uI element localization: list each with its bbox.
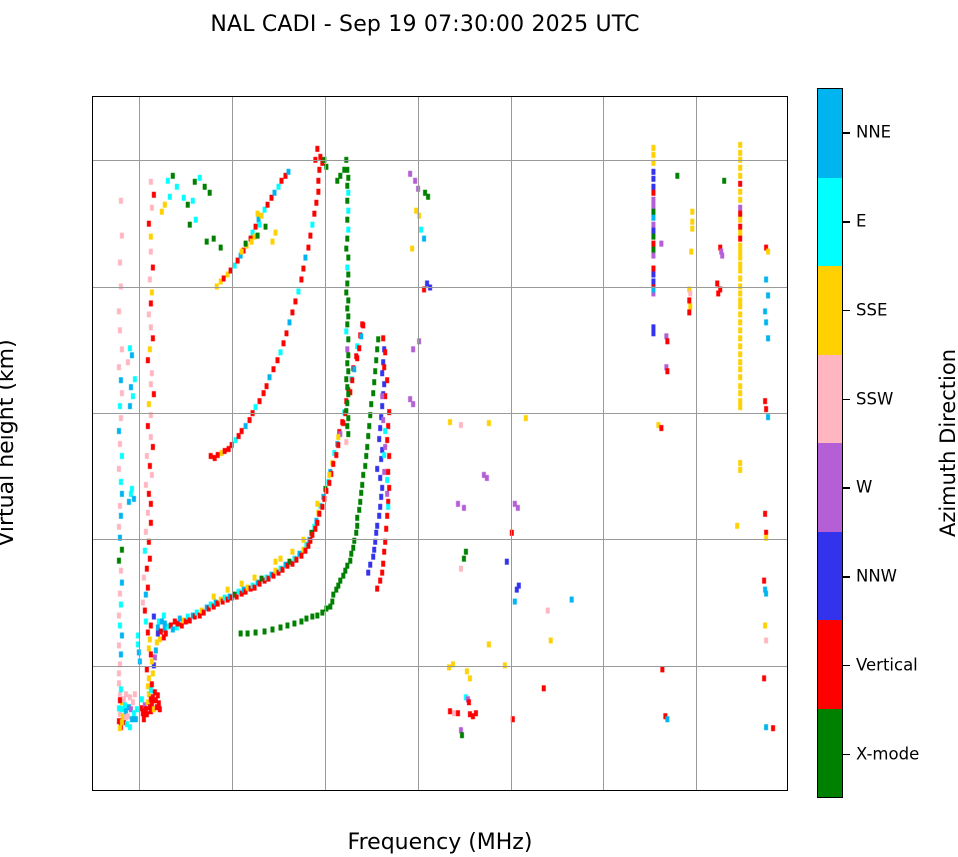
colorbar-label: Azimuth Direction <box>936 349 958 537</box>
colorbar[interactable] <box>817 88 843 798</box>
colorbar-label-nne: NNE <box>856 123 891 142</box>
y-tick-minor <box>92 634 93 635</box>
colorbar-band-w[interactable] <box>818 443 842 532</box>
colorbar-tick <box>843 487 850 489</box>
gridline-horizontal <box>93 413 787 414</box>
colorbar-tick <box>843 310 850 312</box>
y-tick-minor <box>92 445 93 446</box>
gridline-horizontal <box>93 666 787 667</box>
y-tick-minor <box>92 97 93 98</box>
y-tick <box>92 539 93 541</box>
colorbar-label-x-mode: X-mode <box>856 744 919 763</box>
gridline-vertical <box>511 97 512 790</box>
y-tick-minor <box>92 318 93 319</box>
colorbar-tick <box>843 665 850 667</box>
colorbar-band-e[interactable] <box>818 178 842 267</box>
y-tick-minor <box>92 729 93 730</box>
colorbar-band-nne[interactable] <box>818 89 842 178</box>
colorbar-label-vertical: Vertical <box>856 655 918 674</box>
colorbar-band-nnw[interactable] <box>818 532 842 621</box>
scatter-canvas <box>93 97 787 790</box>
ionogram-figure: NAL CADI - Sep 19 07:30:00 2025 UTC 0200… <box>0 0 958 857</box>
colorbar-label-w: W <box>856 478 872 497</box>
colorbar-band-ssw[interactable] <box>818 355 842 444</box>
colorbar-band-x-mode[interactable] <box>818 709 842 798</box>
plot-area[interactable]: 02004006008001000246810121416 <box>92 96 788 791</box>
y-tick-minor <box>92 350 93 351</box>
gridline-vertical <box>418 97 419 790</box>
x-axis-label: Frequency (MHz) <box>348 830 533 855</box>
colorbar-label-ssw: SSW <box>856 389 893 408</box>
page-title: NAL CADI - Sep 19 07:30:00 2025 UTC <box>0 12 850 37</box>
gridline-vertical <box>325 97 326 790</box>
colorbar-tick <box>843 399 850 401</box>
y-tick-minor <box>92 192 93 193</box>
y-tick-minor <box>92 223 93 224</box>
gridline-vertical <box>603 97 604 790</box>
colorbar-tick <box>843 221 850 223</box>
y-tick-minor <box>92 255 93 256</box>
colorbar-band-vertical[interactable] <box>818 620 842 709</box>
gridline-vertical <box>232 97 233 790</box>
y-tick-minor <box>92 508 93 509</box>
y-tick-minor <box>92 697 93 698</box>
y-tick-minor <box>92 571 93 572</box>
gridline-horizontal <box>93 539 787 540</box>
y-tick <box>92 413 93 415</box>
gridline-vertical <box>696 97 697 790</box>
gridline-vertical <box>139 97 140 790</box>
colorbar-tick <box>843 754 850 756</box>
y-tick-minor <box>92 476 93 477</box>
colorbar-label-nnw: NNW <box>856 567 897 586</box>
colorbar-tick <box>843 576 850 578</box>
y-tick-minor <box>92 602 93 603</box>
y-tick-minor <box>92 381 93 382</box>
y-tick <box>92 666 93 668</box>
colorbar-label-sse: SSE <box>856 300 887 319</box>
colorbar-label-e: E <box>856 212 866 231</box>
colorbar-tick <box>843 132 850 134</box>
y-tick <box>92 287 93 289</box>
y-tick-minor <box>92 129 93 130</box>
gridline-horizontal <box>93 287 787 288</box>
y-tick <box>92 160 93 162</box>
colorbar-band-sse[interactable] <box>818 266 842 355</box>
gridline-horizontal <box>93 160 787 161</box>
y-tick-minor <box>92 760 93 761</box>
y-axis-label: Virtual height (km) <box>0 339 19 546</box>
